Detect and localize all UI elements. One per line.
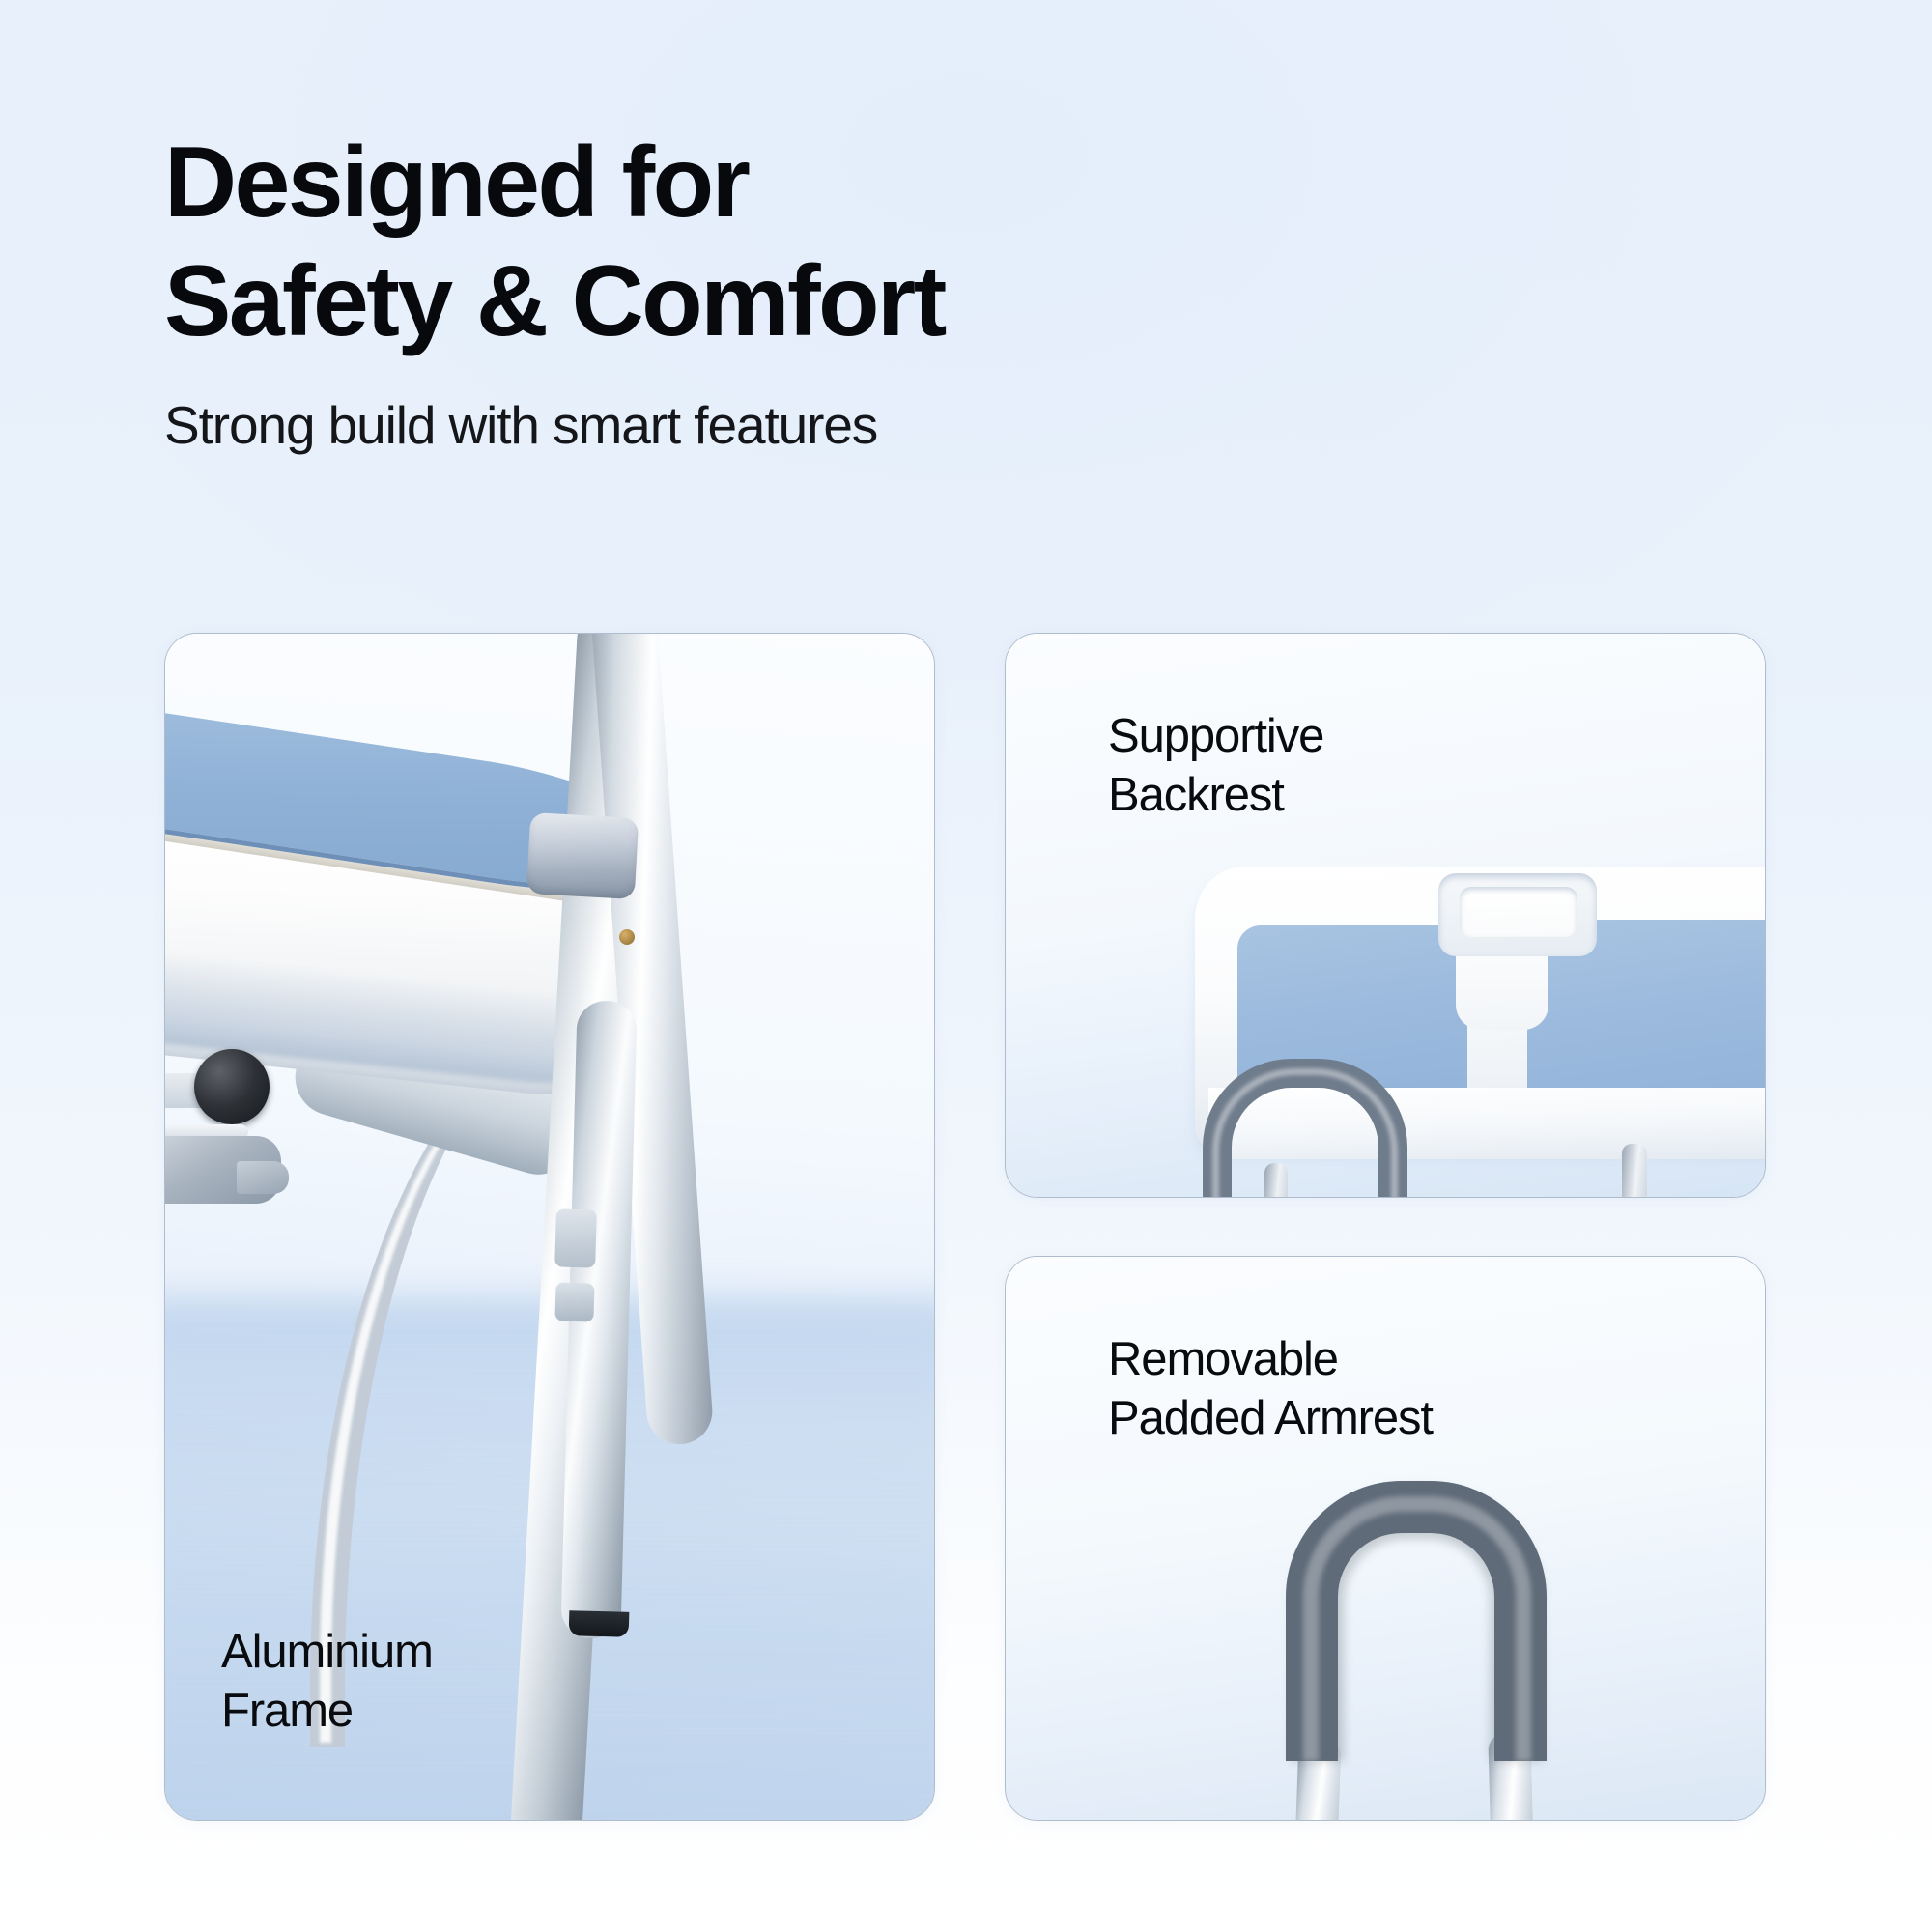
card-label-supportive-backrest: Supportive Backrest [1108,707,1323,826]
feature-card-aluminium-frame[interactable]: Aluminium Frame [164,633,935,1821]
card-label-removable-padded-armrest: Removable Padded Armrest [1108,1330,1433,1449]
page-title: Designed for Safety & Comfort [164,124,1420,360]
feature-card-removable-padded-armrest[interactable]: Removable Padded Armrest [1005,1256,1766,1821]
heading-block: Designed for Safety & Comfort Strong bui… [164,124,1420,457]
page-subtitle: Strong build with smart features [164,393,1420,457]
tube-collar-ring [526,812,639,899]
feature-card-supportive-backrest[interactable]: Supportive Backrest [1005,633,1766,1198]
adjust-screw-icon [619,929,635,945]
height-adjust-knob [194,1049,270,1124]
card-label-aluminium-frame: Aluminium Frame [221,1623,433,1742]
tube-end-cap [569,1610,630,1637]
infographic-canvas: Designed for Safety & Comfort Strong bui… [0,0,1932,1932]
backrest-support-leg-right [1622,1144,1647,1198]
